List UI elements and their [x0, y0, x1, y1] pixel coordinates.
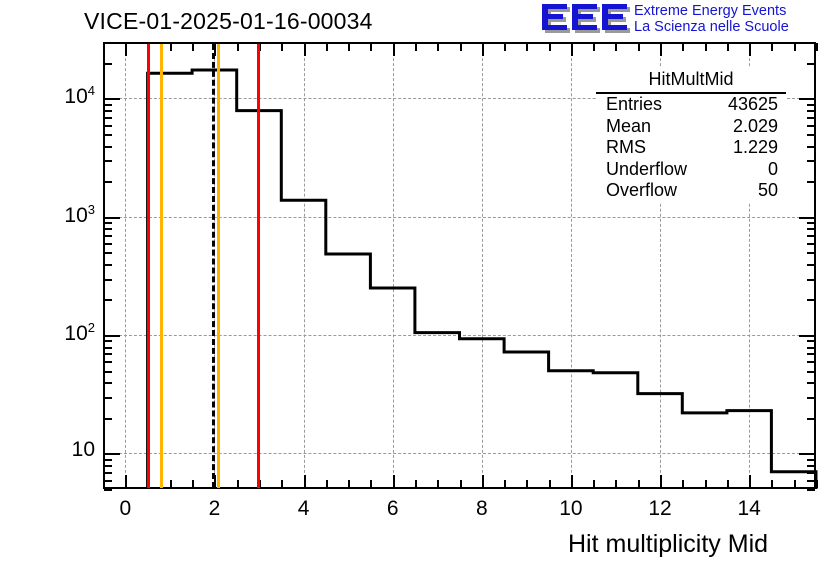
- stats-row: Overflow50: [596, 180, 786, 202]
- stats-row-value: 1.229: [733, 137, 778, 159]
- stats-title: HitMultMid: [596, 68, 786, 94]
- stats-row-key: RMS: [606, 137, 646, 159]
- marker-mean-dashed-black: [212, 44, 215, 488]
- marker-threshold-low-orange: [160, 44, 163, 488]
- stats-row: Entries43625: [596, 94, 786, 116]
- stats-row: RMS1.229: [596, 137, 786, 159]
- stats-box: HitMultMid Entries43625Mean2.029RMS1.229…: [596, 68, 786, 202]
- stats-row-value: 43625: [728, 94, 778, 116]
- marker-threshold-high-red: [257, 44, 260, 488]
- stats-row-key: Mean: [606, 116, 651, 138]
- marker-threshold-low-red: [147, 44, 150, 488]
- stats-row-key: Entries: [606, 94, 662, 116]
- stats-row-value: 0: [768, 159, 778, 181]
- stats-rows: Entries43625Mean2.029RMS1.229Underflow0O…: [596, 94, 786, 202]
- stats-row: Underflow0: [596, 159, 786, 181]
- stats-row-value: 50: [758, 180, 778, 202]
- root-canvas: VICE-01-2025-01-16-00034: [0, 0, 836, 572]
- stats-row: Mean2.029: [596, 116, 786, 138]
- stats-row-key: Underflow: [606, 159, 687, 181]
- marker-threshold-high-orange: [217, 44, 220, 488]
- stats-row-value: 2.029: [733, 116, 778, 138]
- stats-row-key: Overflow: [606, 180, 677, 202]
